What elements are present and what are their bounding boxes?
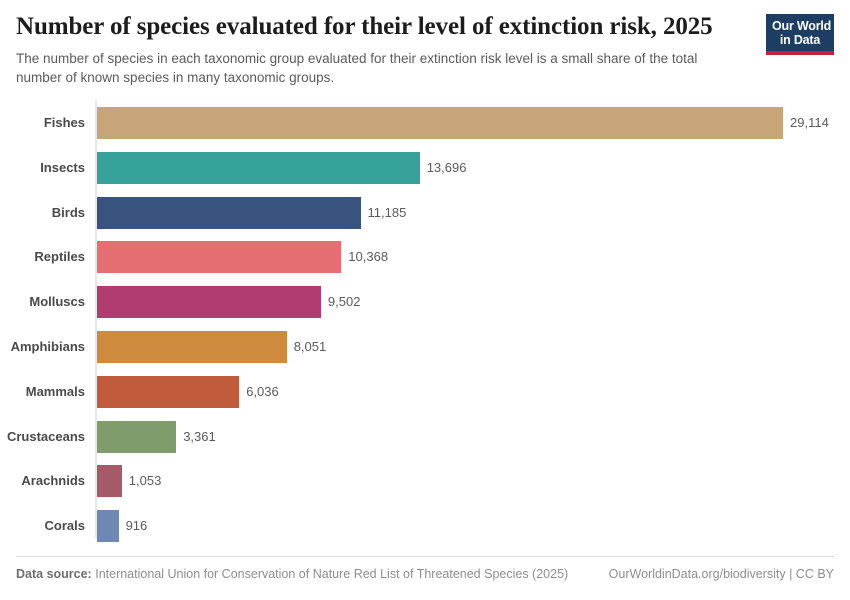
bar-value-label: 10,368 — [348, 241, 388, 273]
bar-rect[interactable] — [97, 197, 361, 229]
bar-rect[interactable] — [97, 107, 783, 139]
chart-footer: Data source: International Union for Con… — [16, 563, 834, 585]
bar-category-label: Birds — [0, 197, 85, 229]
bar-value-label: 916 — [126, 510, 148, 542]
bar-value-label: 29,114 — [790, 107, 829, 139]
chart-header: Number of species evaluated for their le… — [0, 0, 850, 87]
bar-rect[interactable] — [97, 152, 420, 184]
bar-value-label: 6,036 — [246, 376, 279, 408]
bar-category-label: Reptiles — [0, 241, 85, 273]
bar-category-label: Crustaceans — [0, 421, 85, 453]
bar-row[interactable]: Mammals6,036 — [0, 376, 850, 408]
bar-value-label: 9,502 — [328, 286, 361, 318]
bar-rect[interactable] — [97, 286, 321, 318]
chart-subtitle: The number of species in each taxonomic … — [16, 49, 734, 87]
bar-rect[interactable] — [97, 465, 122, 497]
bar-row[interactable]: Molluscs9,502 — [0, 286, 850, 318]
bar-value-label: 8,051 — [294, 331, 327, 363]
logo-line-1: Our World — [772, 19, 828, 33]
bar-rect[interactable] — [97, 510, 119, 542]
bar-row[interactable]: Corals916 — [0, 510, 850, 542]
bar-rect[interactable] — [97, 421, 176, 453]
data-source-label: Data source: — [16, 567, 92, 581]
data-source: Data source: International Union for Con… — [16, 563, 568, 585]
bar-row[interactable]: Reptiles10,368 — [0, 241, 850, 273]
bar-category-label: Fishes — [0, 107, 85, 139]
bar-rect[interactable] — [97, 331, 287, 363]
attribution-link[interactable]: OurWorldinData.org/biodiversity | CC BY — [609, 563, 834, 585]
bar-chart-plot: Fishes29,114Insects13,696Birds11,185Rept… — [0, 98, 850, 543]
logo-line-2: in Data — [772, 33, 828, 47]
our-world-in-data-logo[interactable]: Our World in Data — [766, 14, 834, 55]
bar-category-label: Arachnids — [0, 465, 85, 497]
page-title: Number of species evaluated for their le… — [16, 12, 834, 42]
bar-row[interactable]: Amphibians8,051 — [0, 331, 850, 363]
bar-row[interactable]: Crustaceans3,361 — [0, 421, 850, 453]
bar-row[interactable]: Arachnids1,053 — [0, 465, 850, 497]
bar-category-label: Amphibians — [0, 331, 85, 363]
bar-row[interactable]: Insects13,696 — [0, 152, 850, 184]
bar-rect[interactable] — [97, 376, 239, 408]
bar-row[interactable]: Birds11,185 — [0, 197, 850, 229]
bar-value-label: 13,696 — [427, 152, 467, 184]
bar-rect[interactable] — [97, 241, 341, 273]
bar-category-label: Insects — [0, 152, 85, 184]
data-source-text: International Union for Conservation of … — [95, 567, 568, 581]
bar-row[interactable]: Fishes29,114 — [0, 107, 850, 139]
bar-value-label: 1,053 — [129, 465, 162, 497]
bar-category-label: Mammals — [0, 376, 85, 408]
footer-divider — [16, 556, 834, 557]
bar-value-label: 11,185 — [368, 197, 407, 229]
bar-category-label: Corals — [0, 510, 85, 542]
bar-category-label: Molluscs — [0, 286, 85, 318]
bar-value-label: 3,361 — [183, 421, 216, 453]
